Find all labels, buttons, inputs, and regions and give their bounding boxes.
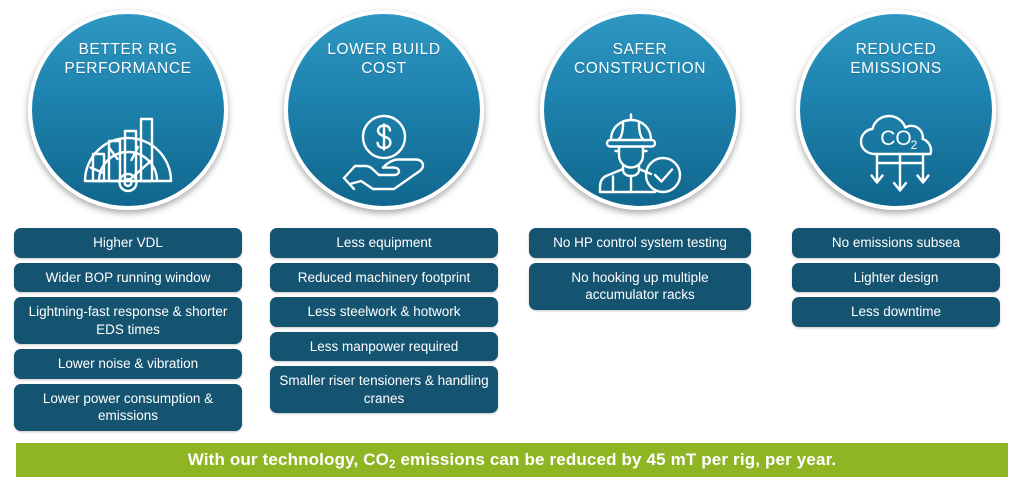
infographic-root: BETTER RIG PERFORMANCE	[0, 0, 1024, 485]
benefit-pill[interactable]: Lighter design	[792, 263, 1000, 293]
circle-body: SAFER CONSTRUCTION	[540, 10, 740, 210]
benefit-circle-lower-build-cost[interactable]: LOWER BUILD COST	[284, 10, 484, 210]
benefit-pill[interactable]: Wider BOP running window	[14, 263, 242, 293]
circle-title: LOWER BUILD COST	[294, 40, 474, 78]
benefit-pill[interactable]: Less equipment	[270, 228, 498, 258]
benefit-column-lower-build-cost: LOWER BUILD COST	[256, 0, 512, 438]
benefit-column-better-rig-performance: BETTER RIG PERFORMANCE	[0, 0, 256, 438]
benefit-circle-safer-construction[interactable]: SAFER CONSTRUCTION	[540, 10, 740, 210]
banner-text-after: emissions can be reduced by 45 mT per ri…	[396, 450, 837, 469]
circle-body: BETTER RIG PERFORMANCE	[28, 10, 228, 210]
benefit-column-reduced-emissions: REDUCED EMISSIONS CO 2	[768, 0, 1024, 438]
hand-holding-dollar-coin-icon	[332, 112, 436, 196]
circle-title-line1: BETTER RIG	[78, 41, 177, 58]
circle-title-line1: LOWER BUILD	[327, 41, 440, 58]
benefit-pill-list: No HP control system testing No hooking …	[529, 228, 751, 310]
benefit-pill-list: Higher VDL Wider BOP running window Ligh…	[14, 228, 242, 431]
svg-text:2: 2	[911, 138, 918, 152]
svg-text:CO: CO	[880, 127, 912, 150]
benefit-columns: BETTER RIG PERFORMANCE	[0, 0, 1024, 438]
circle-body: LOWER BUILD COST	[284, 10, 484, 210]
circle-title-line2: EMISSIONS	[850, 60, 942, 77]
benefit-pill[interactable]: Less downtime	[792, 297, 1000, 327]
gauge-bar-chart-icon	[76, 112, 180, 196]
circle-title-line1: SAFER	[613, 41, 668, 58]
benefit-pill[interactable]: No HP control system testing	[529, 228, 751, 258]
benefit-pill[interactable]: Reduced machinery footprint	[270, 263, 498, 293]
summary-banner-text: With our technology, CO2 emissions can b…	[188, 450, 837, 470]
benefit-pill[interactable]: Less manpower required	[270, 332, 498, 362]
co2-cloud-down-arrows-icon: CO 2	[844, 112, 948, 196]
benefit-pill-list: No emissions subsea Lighter design Less …	[792, 228, 1000, 327]
benefit-pill[interactable]: No hooking up multiple accumulator racks	[529, 263, 751, 310]
circle-title: REDUCED EMISSIONS	[806, 40, 986, 78]
banner-text-before: With our technology, CO	[188, 450, 389, 469]
circle-title-line2: CONSTRUCTION	[574, 60, 706, 77]
benefit-column-safer-construction: SAFER CONSTRUCTION	[512, 0, 768, 438]
benefit-pill[interactable]: No emissions subsea	[792, 228, 1000, 258]
circle-title: BETTER RIG PERFORMANCE	[38, 40, 218, 78]
benefit-pill[interactable]: Smaller riser tensioners & handling cran…	[270, 366, 498, 413]
circle-title-line2: COST	[361, 60, 406, 77]
circle-body: REDUCED EMISSIONS CO 2	[796, 10, 996, 210]
benefit-circle-better-rig-performance[interactable]: BETTER RIG PERFORMANCE	[28, 10, 228, 210]
benefit-pill-list: Less equipment Reduced machinery footpri…	[270, 228, 498, 413]
summary-banner: With our technology, CO2 emissions can b…	[16, 443, 1008, 477]
banner-subscript: 2	[389, 459, 396, 471]
benefit-pill[interactable]: Less steelwork & hotwork	[270, 297, 498, 327]
circle-title-line1: REDUCED	[856, 41, 937, 58]
benefit-pill[interactable]: Lower noise & vibration	[14, 349, 242, 379]
worker-hardhat-check-icon	[588, 112, 692, 196]
benefit-circle-reduced-emissions[interactable]: REDUCED EMISSIONS CO 2	[796, 10, 996, 210]
circle-title-line2: PERFORMANCE	[64, 60, 191, 77]
benefit-pill[interactable]: Lower power consumption & emissions	[14, 384, 242, 431]
circle-title: SAFER CONSTRUCTION	[550, 40, 730, 78]
benefit-pill[interactable]: Higher VDL	[14, 228, 242, 258]
benefit-pill[interactable]: Lightning-fast response & shorter EDS ti…	[14, 297, 242, 344]
